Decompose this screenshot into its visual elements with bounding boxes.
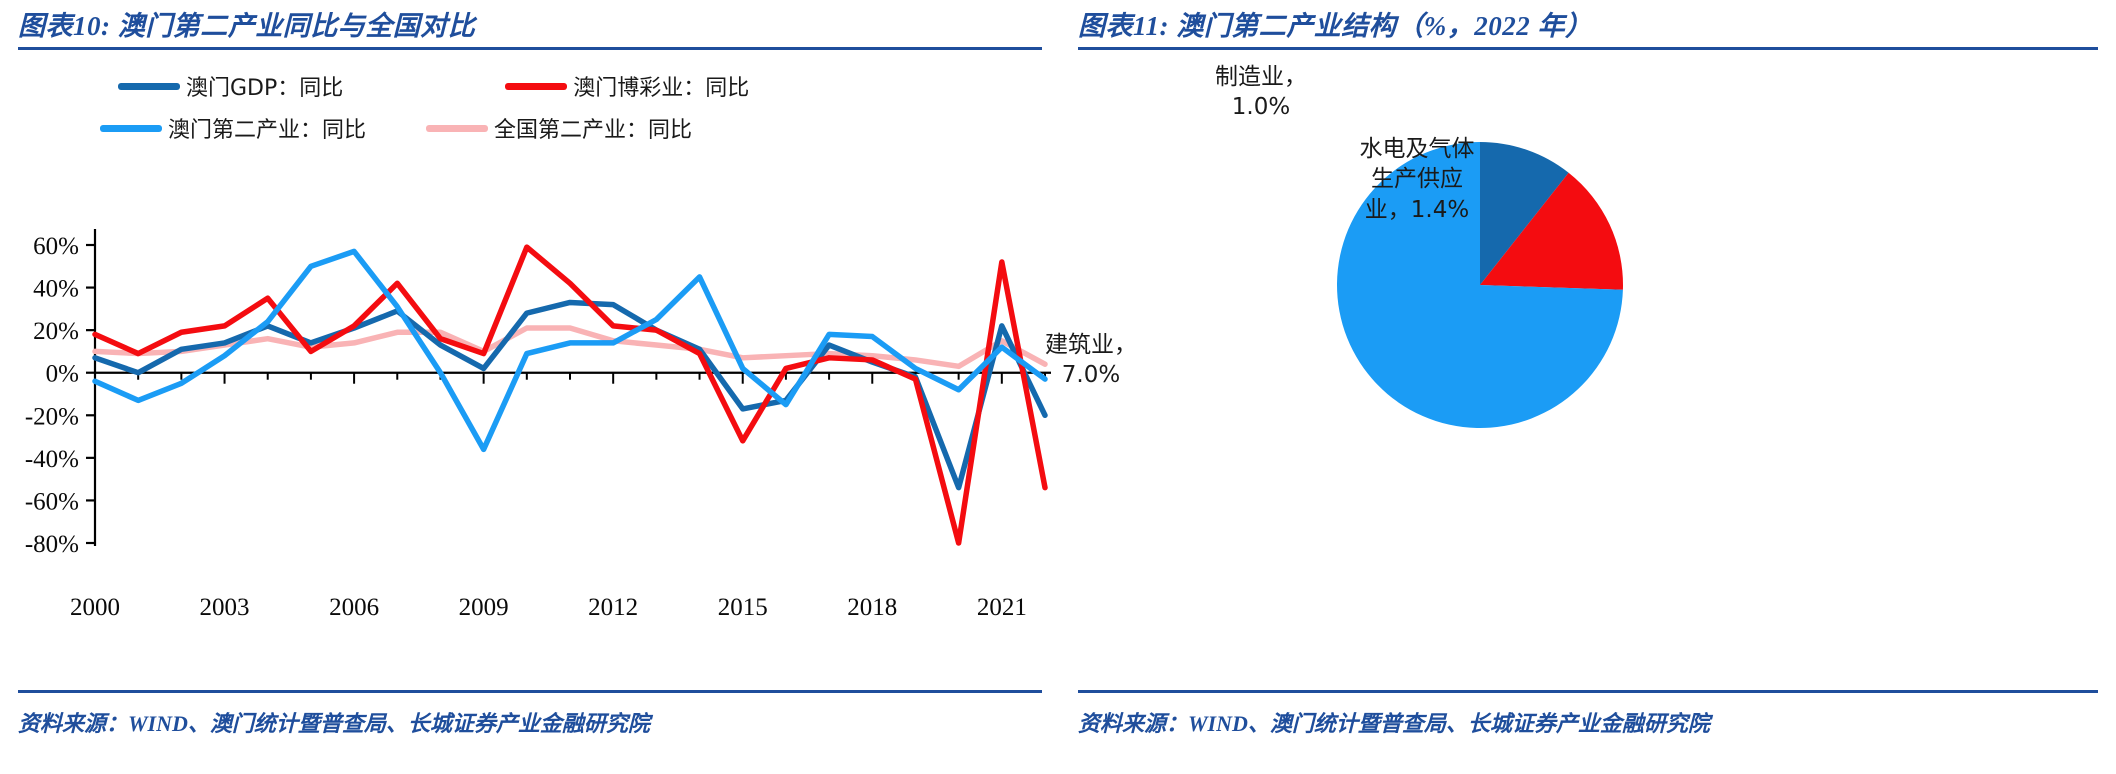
y-tick-label: -20% [25, 403, 79, 430]
chart-panel-right: 图表11: 澳门第二产业结构（%，2022 年） 资料来源：WIND、澳门统计暨… [1060, 0, 2116, 774]
chart-panel-left: 图表10: 澳门第二产业同比与全国对比 澳门GDP：同比 澳门博彩业：同比 澳门… [0, 0, 1060, 774]
legend-swatch-macau-secondary [100, 125, 162, 132]
x-tick-label: 2015 [718, 594, 768, 621]
legend-label-macau-gdp: 澳门GDP：同比 [186, 70, 343, 102]
legend-swatch-macau-gaming [505, 83, 567, 90]
legend-item-macau-gaming[interactable]: 澳门博彩业：同比 [505, 70, 749, 102]
y-tick-label: 0% [46, 361, 79, 388]
title-divider-left [18, 47, 1042, 50]
series-lines [95, 247, 1045, 543]
x-tick-label: 2009 [459, 594, 509, 621]
line-plot-svg: 60%40%20%0%-20%-40%-60%-80% 200020032006… [0, 165, 1060, 685]
y-tick-label: -60% [25, 488, 79, 515]
legend: 澳门GDP：同比 澳门博彩业：同比 澳门第二产业：同比 全国第二产业：同比 [100, 65, 920, 149]
y-tick-label: -40% [25, 446, 79, 473]
legend-label-macau-secondary: 澳门第二产业：同比 [168, 112, 366, 144]
legend-item-china-secondary[interactable]: 全国第二产业：同比 [426, 112, 692, 144]
page-title-right: 图表11: 澳门第二产业结构（%，2022 年） [1078, 4, 1593, 43]
legend-swatch-macau-gdp [118, 83, 180, 90]
x-tick-label: 2006 [329, 594, 379, 621]
y-tick-label: 60% [33, 233, 79, 260]
source-note-right: 资料来源：WIND、澳门统计暨普查局、长城证券产业金融研究院 [1078, 706, 1710, 738]
legend-swatch-china-secondary [426, 125, 488, 132]
x-axis: 20002003200620092012201520182021 [70, 373, 1051, 621]
footer-divider-right [1078, 690, 2098, 693]
legend-label-china-secondary: 全国第二产业：同比 [494, 112, 692, 144]
legend-row-2: 澳门第二产业：同比 全国第二产业：同比 [100, 107, 920, 149]
legend-item-macau-gdp[interactable]: 澳门GDP：同比 [118, 70, 343, 102]
title-divider-right [1078, 47, 2098, 50]
line-chart: 澳门GDP：同比 澳门博彩业：同比 澳门第二产业：同比 全国第二产业：同比 [0, 55, 1060, 685]
x-tick-label: 2012 [588, 594, 638, 621]
y-tick-label: 20% [33, 318, 79, 345]
x-tick-label: 2003 [200, 594, 250, 621]
legend-item-macau-secondary[interactable]: 澳门第二产业：同比 [100, 112, 366, 144]
y-tick-label: -80% [25, 531, 79, 558]
x-tick-label: 2021 [977, 594, 1027, 621]
footer-divider-left [18, 690, 1042, 693]
y-axis: 60%40%20%0%-20%-40%-60%-80% [25, 229, 95, 558]
legend-label-macau-gaming: 澳门博彩业：同比 [573, 70, 749, 102]
legend-row-1: 澳门GDP：同比 澳门博彩业：同比 [100, 65, 920, 107]
x-tick-label: 2018 [847, 594, 897, 621]
page-title-left: 图表10: 澳门第二产业同比与全国对比 [18, 4, 475, 43]
source-note-left: 资料来源：WIND、澳门统计暨普查局、长城证券产业金融研究院 [18, 706, 650, 738]
y-tick-label: 40% [33, 276, 79, 303]
x-tick-label: 2000 [70, 594, 120, 621]
series-line [95, 247, 1045, 543]
